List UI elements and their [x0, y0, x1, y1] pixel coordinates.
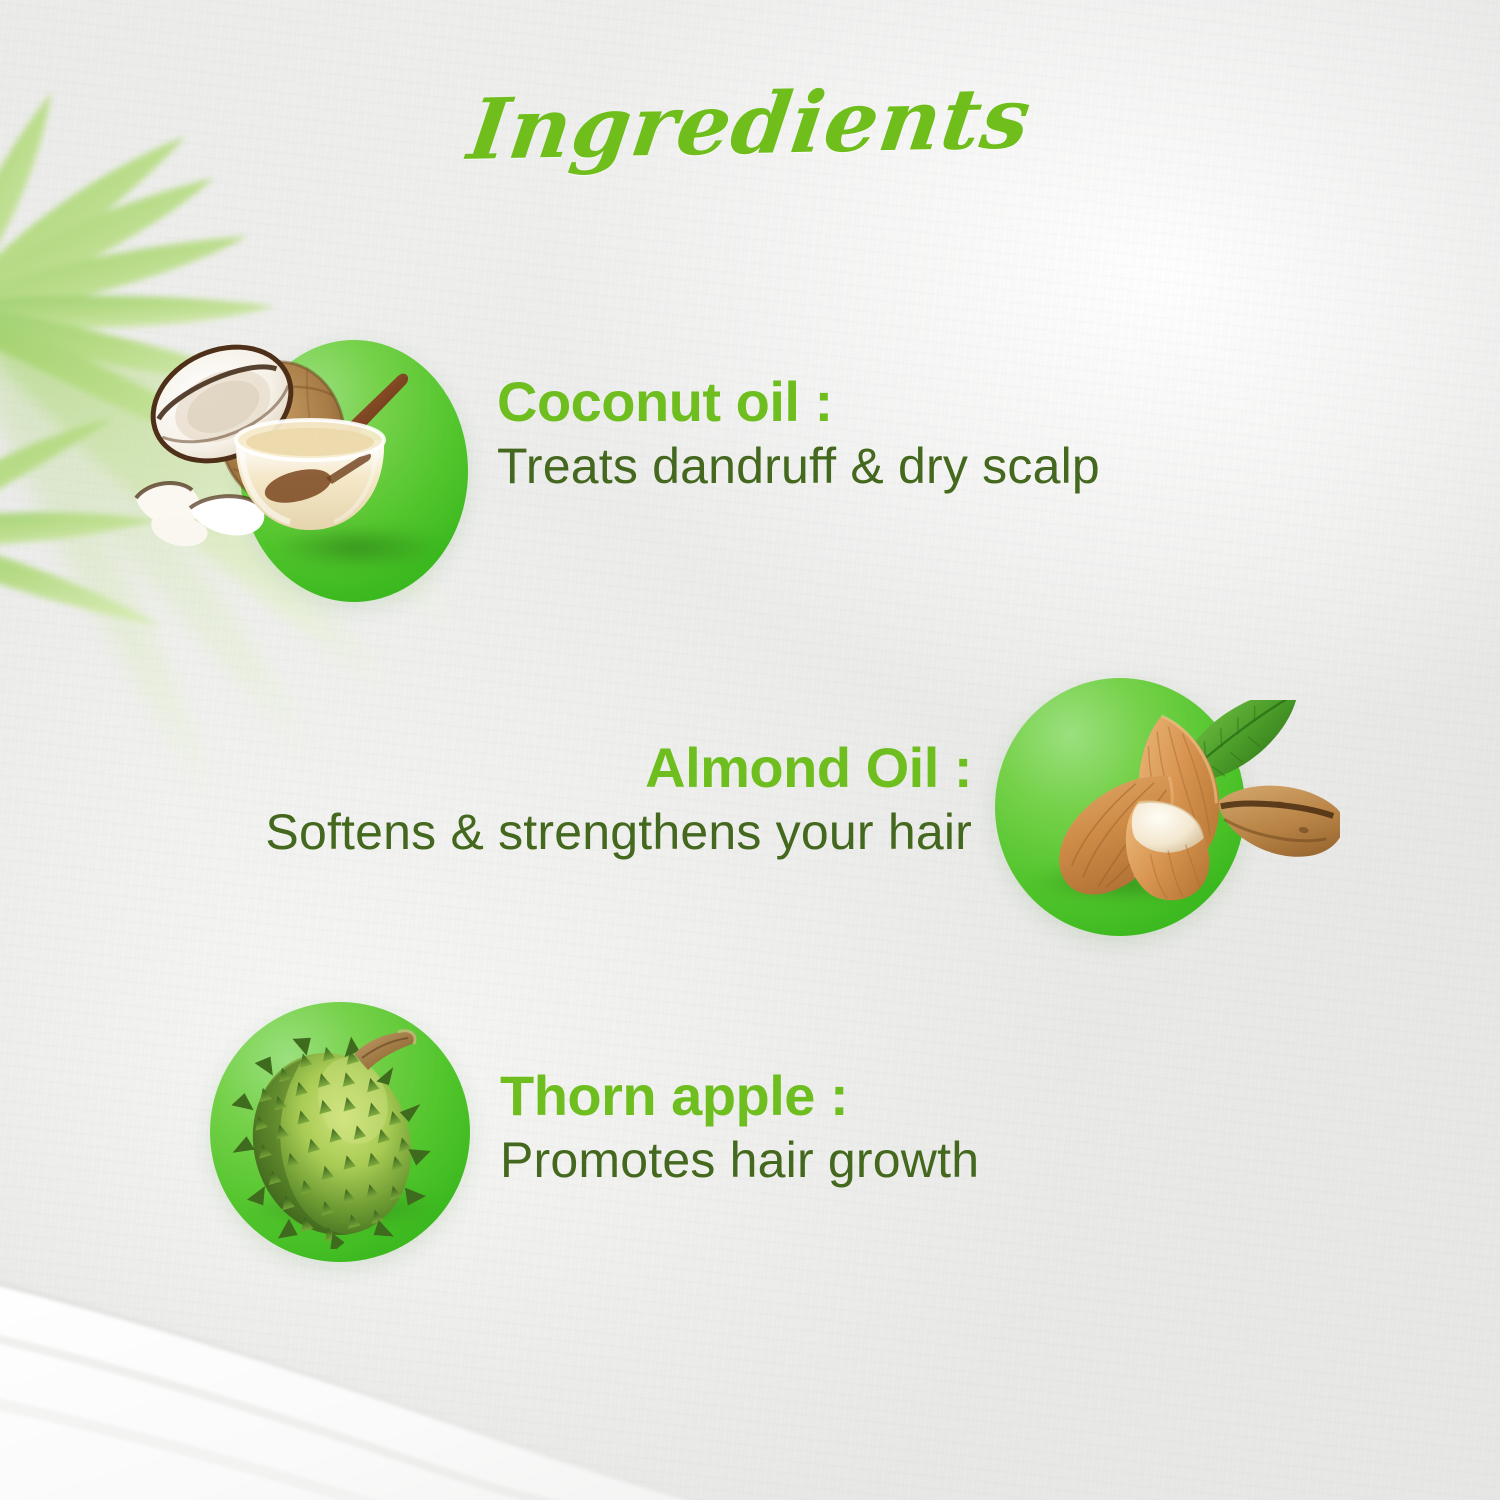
- ingredient-name-almond: Almond Oil :: [265, 738, 972, 797]
- page-title: Ingredients: [0, 58, 1500, 188]
- ingredients-infographic: Ingredients: [0, 0, 1500, 1500]
- ingredient-image-almond: [995, 678, 1245, 936]
- ingredient-benefit-coconut: Treats dandruff & dry scalp: [497, 437, 1100, 495]
- ingredient-text-coconut: Coconut oil : Treats dandruff & dry scal…: [497, 372, 1100, 495]
- ingredient-benefit-almond: Softens & strengthens your hair: [265, 803, 972, 861]
- circle-shadow-coconut: [272, 526, 441, 568]
- circle-shadow-thorn-apple: [246, 1187, 438, 1229]
- ingredient-image-thorn-apple: [210, 1002, 470, 1262]
- ingredient-benefit-thorn-apple: Promotes hair growth: [500, 1131, 979, 1189]
- ingredient-text-almond: Almond Oil : Softens & strengthens your …: [265, 738, 972, 861]
- ingredient-text-thorn-apple: Thorn apple : Promotes hair growth: [500, 1066, 979, 1189]
- ingredient-name-coconut: Coconut oil :: [497, 372, 1100, 431]
- ingredient-name-thorn-apple: Thorn apple :: [500, 1066, 979, 1125]
- ingredient-image-coconut: [240, 340, 468, 602]
